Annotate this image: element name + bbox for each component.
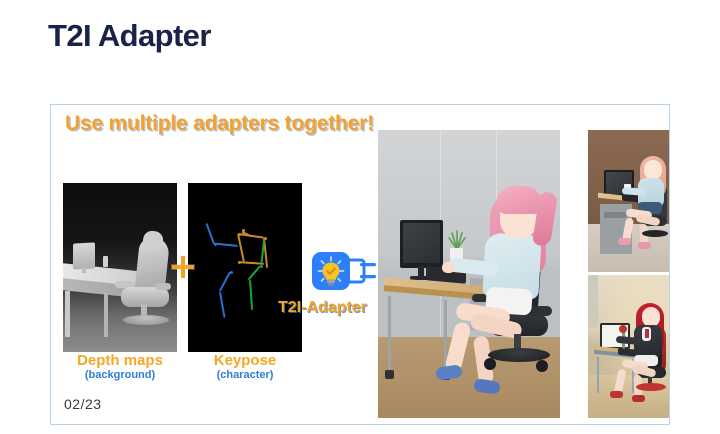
depth-map-caption: Depth maps (background) — [55, 353, 185, 383]
keypose-joint — [230, 271, 233, 274]
keypose-caption-subtitle: (character) — [180, 369, 310, 383]
keypose-bone — [248, 265, 261, 280]
adapter-label: T2I-Adapter — [278, 299, 367, 317]
br-character-tie — [645, 329, 649, 338]
adapter-plug-lightbulb-icon — [310, 248, 380, 295]
br-desk-leg-left — [597, 357, 599, 393]
depth-map-caption-title: Depth maps — [55, 353, 185, 369]
keypose-bone — [249, 280, 253, 310]
tr-character-shoe-left — [618, 238, 631, 245]
main-monitor-screen — [403, 223, 440, 263]
keypose-bone — [219, 272, 231, 292]
main-monitor — [400, 220, 443, 268]
depth-map-image — [63, 183, 177, 352]
keypose-joint — [238, 261, 241, 264]
br-character-head — [642, 307, 660, 327]
main-chair-caster-left — [484, 358, 496, 370]
page-title: T2I Adapter — [48, 18, 211, 54]
depth-chair-armrest-right — [155, 283, 171, 290]
keypose-bone — [238, 233, 264, 239]
keypose-bone — [219, 292, 225, 318]
plus-icon — [172, 256, 194, 278]
br-rose — [619, 325, 627, 333]
tr-cabinet-drawer — [604, 212, 626, 218]
main-potted-plant — [446, 228, 468, 250]
keypose-bone — [214, 242, 238, 246]
depth-chair-base — [123, 315, 169, 325]
depth-map-caption-subtitle: (background) — [55, 369, 185, 383]
main-desk-foot-left — [385, 370, 394, 379]
main-desk-leg-left — [388, 296, 391, 374]
depth-monitor — [73, 242, 95, 269]
main-character-hand — [442, 262, 455, 273]
keypose-joint — [238, 233, 241, 236]
br-character-shoe-right — [632, 395, 645, 402]
page-number: 02/23 — [64, 396, 102, 412]
tr-character-shoe-right — [638, 242, 651, 249]
generated-image-main — [378, 130, 560, 418]
generated-image-bottom-right — [588, 275, 669, 418]
keypose-joint — [260, 265, 263, 268]
keypose-joint — [214, 243, 217, 246]
br-chair-base — [636, 383, 666, 391]
depth-desk-leg-left — [65, 291, 70, 337]
depth-cup — [103, 256, 108, 267]
headline-text: Use multiple adapters together! — [65, 112, 374, 136]
depth-monitor-stand — [82, 267, 86, 273]
keypose-bone — [206, 223, 215, 244]
keypose-bone — [237, 234, 245, 262]
keypose-image — [188, 183, 302, 352]
tr-chair-base — [642, 230, 668, 237]
tr-character-head — [644, 160, 662, 180]
keypose-caption: Keypose (character) — [180, 353, 310, 383]
depth-desk-leg-right — [104, 293, 108, 337]
main-character-hair-front — [496, 186, 542, 214]
keypose-joint — [264, 237, 267, 240]
br-character-shoe-left — [610, 391, 623, 398]
generated-image-top-right — [588, 130, 669, 272]
main-chair-caster-right — [536, 360, 548, 372]
keypose-caption-title: Keypose — [180, 353, 310, 369]
keypose-joint — [242, 229, 245, 232]
